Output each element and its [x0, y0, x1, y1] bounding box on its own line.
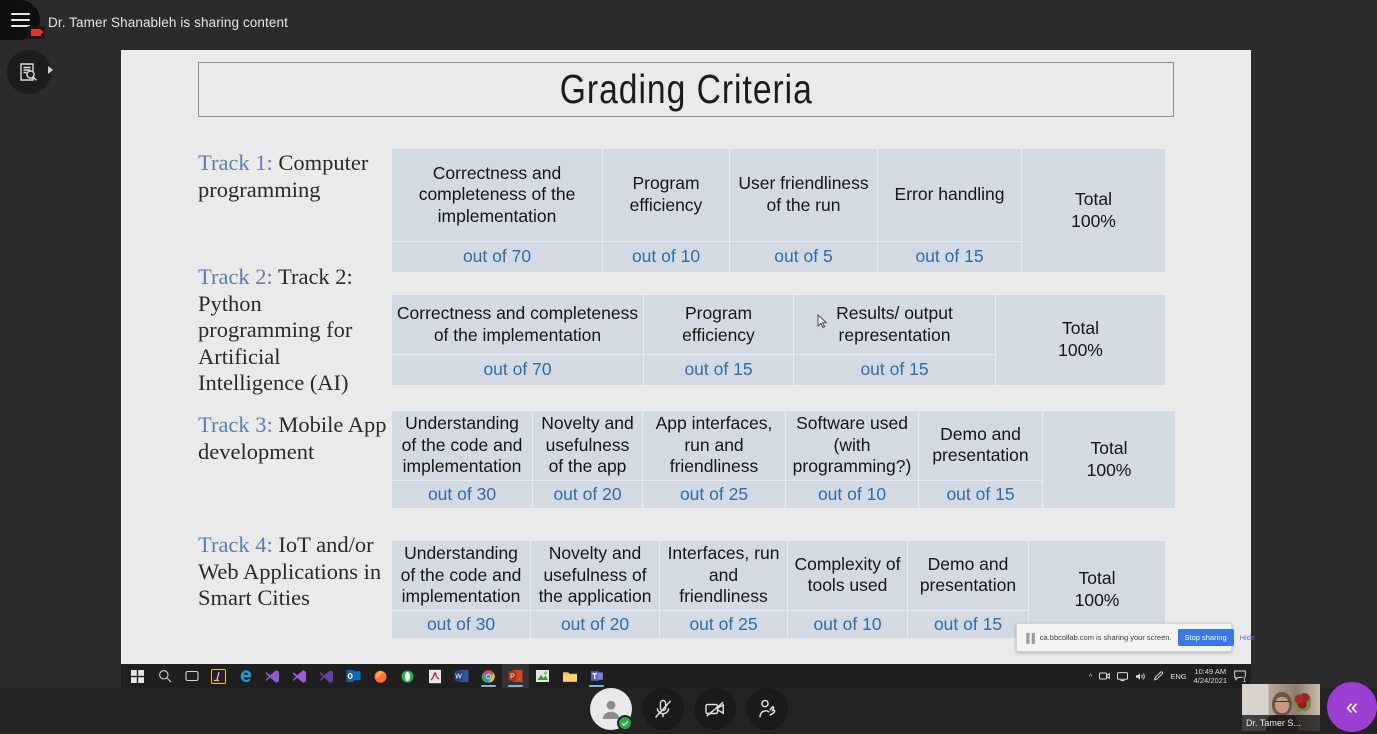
top-bar: Dr. Tamer Shanableh is sharing content: [0, 0, 1377, 46]
total-label: Total: [1091, 438, 1128, 458]
track-label-2: Track 2: Track 2: Python programming for…: [198, 264, 388, 397]
criterion-cell: Program efficiency: [644, 295, 794, 355]
points-cell: out of 25: [660, 610, 788, 639]
teams-icon[interactable]: [583, 664, 610, 688]
track-label-prefix: Track 3:: [198, 412, 273, 437]
rail-expand-caret-icon[interactable]: [48, 66, 53, 74]
total-cell: Total 100%: [1022, 149, 1166, 273]
points-cell: out of 25: [643, 480, 786, 509]
total-label: Total: [1079, 568, 1116, 588]
points-cell: out of 20: [531, 610, 660, 639]
powerpoint-icon[interactable]: P: [502, 664, 529, 688]
points-cell: out of 10: [786, 480, 919, 509]
publisher-icon[interactable]: [529, 664, 556, 688]
points-cell: out of 15: [919, 480, 1043, 509]
screen-share-camera-icon: [27, 26, 45, 39]
collaborate-control-bar: [0, 688, 1377, 734]
criterion-cell: Software used (with programming?): [786, 411, 919, 481]
points-cell: out of 15: [908, 610, 1029, 639]
firefox-icon[interactable]: [367, 664, 394, 688]
file-explorer-icon[interactable]: [556, 664, 583, 688]
chevron-left-double-glyph: «: [1346, 696, 1358, 718]
track-label-prefix: Track 4:: [198, 532, 273, 557]
track-label-prefix: Track 2:: [198, 264, 273, 289]
track-label-3: Track 3: Mobile App development: [198, 412, 388, 465]
jetbrains-icon[interactable]: [205, 664, 232, 688]
word-icon[interactable]: W: [448, 664, 475, 688]
flowers-decor: [1294, 693, 1311, 711]
participant-name-label: Dr. Tamer S...: [1242, 715, 1320, 731]
criterion-cell: Program efficiency: [603, 149, 730, 242]
participant-video-thumbnail[interactable]: Dr. Tamer S...: [1242, 684, 1320, 731]
microphone-muted-icon[interactable]: [642, 688, 684, 730]
points-cell: out of 70: [392, 355, 644, 386]
page-title: Grading Criteria: [559, 66, 812, 113]
track-label-4: Track 4: IoT and/or Web Applications in …: [198, 532, 388, 612]
table-row: Correctness and completeness of the impl…: [392, 295, 1166, 355]
visual-studio-installer-icon[interactable]: [259, 664, 286, 688]
criterion-cell: Novelty and usefulness of the app: [533, 411, 643, 481]
svg-text:W: W: [455, 673, 462, 680]
raise-hand-icon[interactable]: [746, 688, 788, 730]
grading-table-3: Understanding of the code and implementa…: [391, 410, 1176, 509]
points-cell: out of 20: [533, 480, 643, 509]
criterion-cell: User friendliness of the run: [730, 149, 878, 242]
outlook-icon[interactable]: [340, 664, 367, 688]
webcam-icon[interactable]: [1099, 672, 1110, 680]
pen-icon[interactable]: [1153, 671, 1163, 681]
slide-title-box: Grading Criteria: [198, 62, 1174, 117]
criterion-cell: Understanding of the code and implementa…: [392, 411, 533, 481]
collapse-panel-chevrons-icon[interactable]: «: [1327, 682, 1377, 732]
total-cell: Total 100%: [996, 295, 1166, 386]
points-cell: out of 15: [644, 355, 794, 386]
vs-code-insiders-icon[interactable]: [313, 664, 340, 688]
media-controls: [590, 688, 788, 730]
chrome-icon[interactable]: [475, 664, 502, 688]
participant-glasses: [1274, 701, 1290, 705]
track-label-1: Track 1: Computer programming: [198, 150, 388, 203]
search-icon[interactable]: [151, 664, 178, 688]
screen-share-notification: ▐▐ ca.bbcollab.com is sharing your scree…: [1016, 623, 1232, 652]
criterion-cell: Correctness and completeness of the impl…: [392, 295, 644, 355]
total-label: Total: [1062, 318, 1099, 338]
volume-icon[interactable]: [1135, 672, 1146, 681]
track-row-3: Track 3: Mobile App development Understa…: [121, 410, 1251, 520]
show-hidden-icons-icon[interactable]: ^: [1089, 672, 1093, 681]
hide-notification-button[interactable]: Hide: [1240, 633, 1255, 642]
system-tray: ^ ENG 10:49 AM 4/24/2021 1: [1089, 667, 1251, 686]
points-cell: out of 30: [392, 610, 531, 639]
points-cell: out of 10: [788, 610, 908, 639]
windows-taskbar: W P ^ ENG 10:: [121, 664, 1251, 688]
track-row-1: Track 1: Computer programming Correctnes…: [121, 148, 1251, 273]
taskbar-icons: W P: [121, 664, 610, 688]
mouse-cursor-icon: [817, 314, 828, 329]
table-row: Understanding of the code and implementa…: [392, 411, 1176, 481]
criterion-cell: App interfaces, run and friendliness: [643, 411, 786, 481]
table-row: Correctness and completeness of the impl…: [392, 149, 1166, 242]
user-avatar-icon[interactable]: [590, 688, 632, 730]
criterion-cell: Novelty and usefulness of the applicatio…: [531, 541, 660, 611]
sharing-content-banner: Dr. Tamer Shanableh is sharing content: [48, 15, 288, 30]
total-value: 100%: [1058, 340, 1103, 360]
criterion-cell: Interfaces, run and friendliness: [660, 541, 788, 611]
camera-off-icon[interactable]: [694, 688, 736, 730]
criterion-cell: Demo and presentation: [919, 411, 1043, 481]
tray-clock[interactable]: 10:49 AM 4/24/2021: [1194, 667, 1227, 686]
points-cell: out of 30: [392, 480, 533, 509]
criterion-cell: Understanding of the code and implementa…: [392, 541, 531, 611]
acrobat-reader-icon[interactable]: [421, 664, 448, 688]
criterion-cell: Error handling: [878, 149, 1022, 242]
total-value: 100%: [1071, 211, 1116, 231]
grading-table-2: Correctness and completeness of the impl…: [391, 294, 1166, 386]
task-view-icon[interactable]: [178, 664, 205, 688]
criterion-cell: Correctness and completeness of the impl…: [392, 149, 603, 242]
opera-icon[interactable]: [394, 664, 421, 688]
svg-text:P: P: [510, 673, 515, 680]
share-notification-message: ca.bbcollab.com is sharing your screen.: [1040, 633, 1172, 642]
table-row: Understanding of the code and implementa…: [392, 541, 1166, 611]
content-search-icon[interactable]: [7, 50, 51, 94]
visual-studio-icon[interactable]: [286, 664, 313, 688]
tray-time: 10:49 AM: [1194, 667, 1226, 676]
tray-date: 4/24/2021: [1194, 676, 1227, 685]
total-label: Total: [1075, 189, 1112, 209]
grading-table-1: Correctness and completeness of the impl…: [391, 148, 1166, 273]
criterion-cell: Complexity of tools used: [788, 541, 908, 611]
available-check-icon: [617, 715, 633, 731]
start-icon[interactable]: [124, 664, 151, 688]
points-cell: out of 15: [794, 355, 996, 386]
total-value: 100%: [1087, 460, 1132, 480]
total-cell: Total 100%: [1043, 411, 1176, 509]
track-row-2: Track 2: Track 2: Python programming for…: [121, 262, 1251, 394]
total-value: 100%: [1075, 590, 1120, 610]
screen-share-meeting-window: Dr. Tamer Shanableh is sharing content G…: [0, 0, 1377, 734]
shared-slide: Grading Criteria Track 1: Computer progr…: [121, 50, 1251, 664]
stop-sharing-button[interactable]: Stop sharing: [1178, 629, 1234, 646]
display-icon[interactable]: [1117, 672, 1128, 681]
tray-language[interactable]: ENG: [1170, 672, 1186, 681]
pause-icon[interactable]: ▐▐: [1023, 633, 1034, 643]
notifications-icon[interactable]: 1: [1234, 670, 1246, 683]
track-label-prefix: Track 1:: [198, 150, 273, 175]
internet-explorer-icon[interactable]: [232, 664, 259, 688]
participant-face: [1275, 697, 1289, 713]
criterion-cell: Demo and presentation: [908, 541, 1029, 611]
